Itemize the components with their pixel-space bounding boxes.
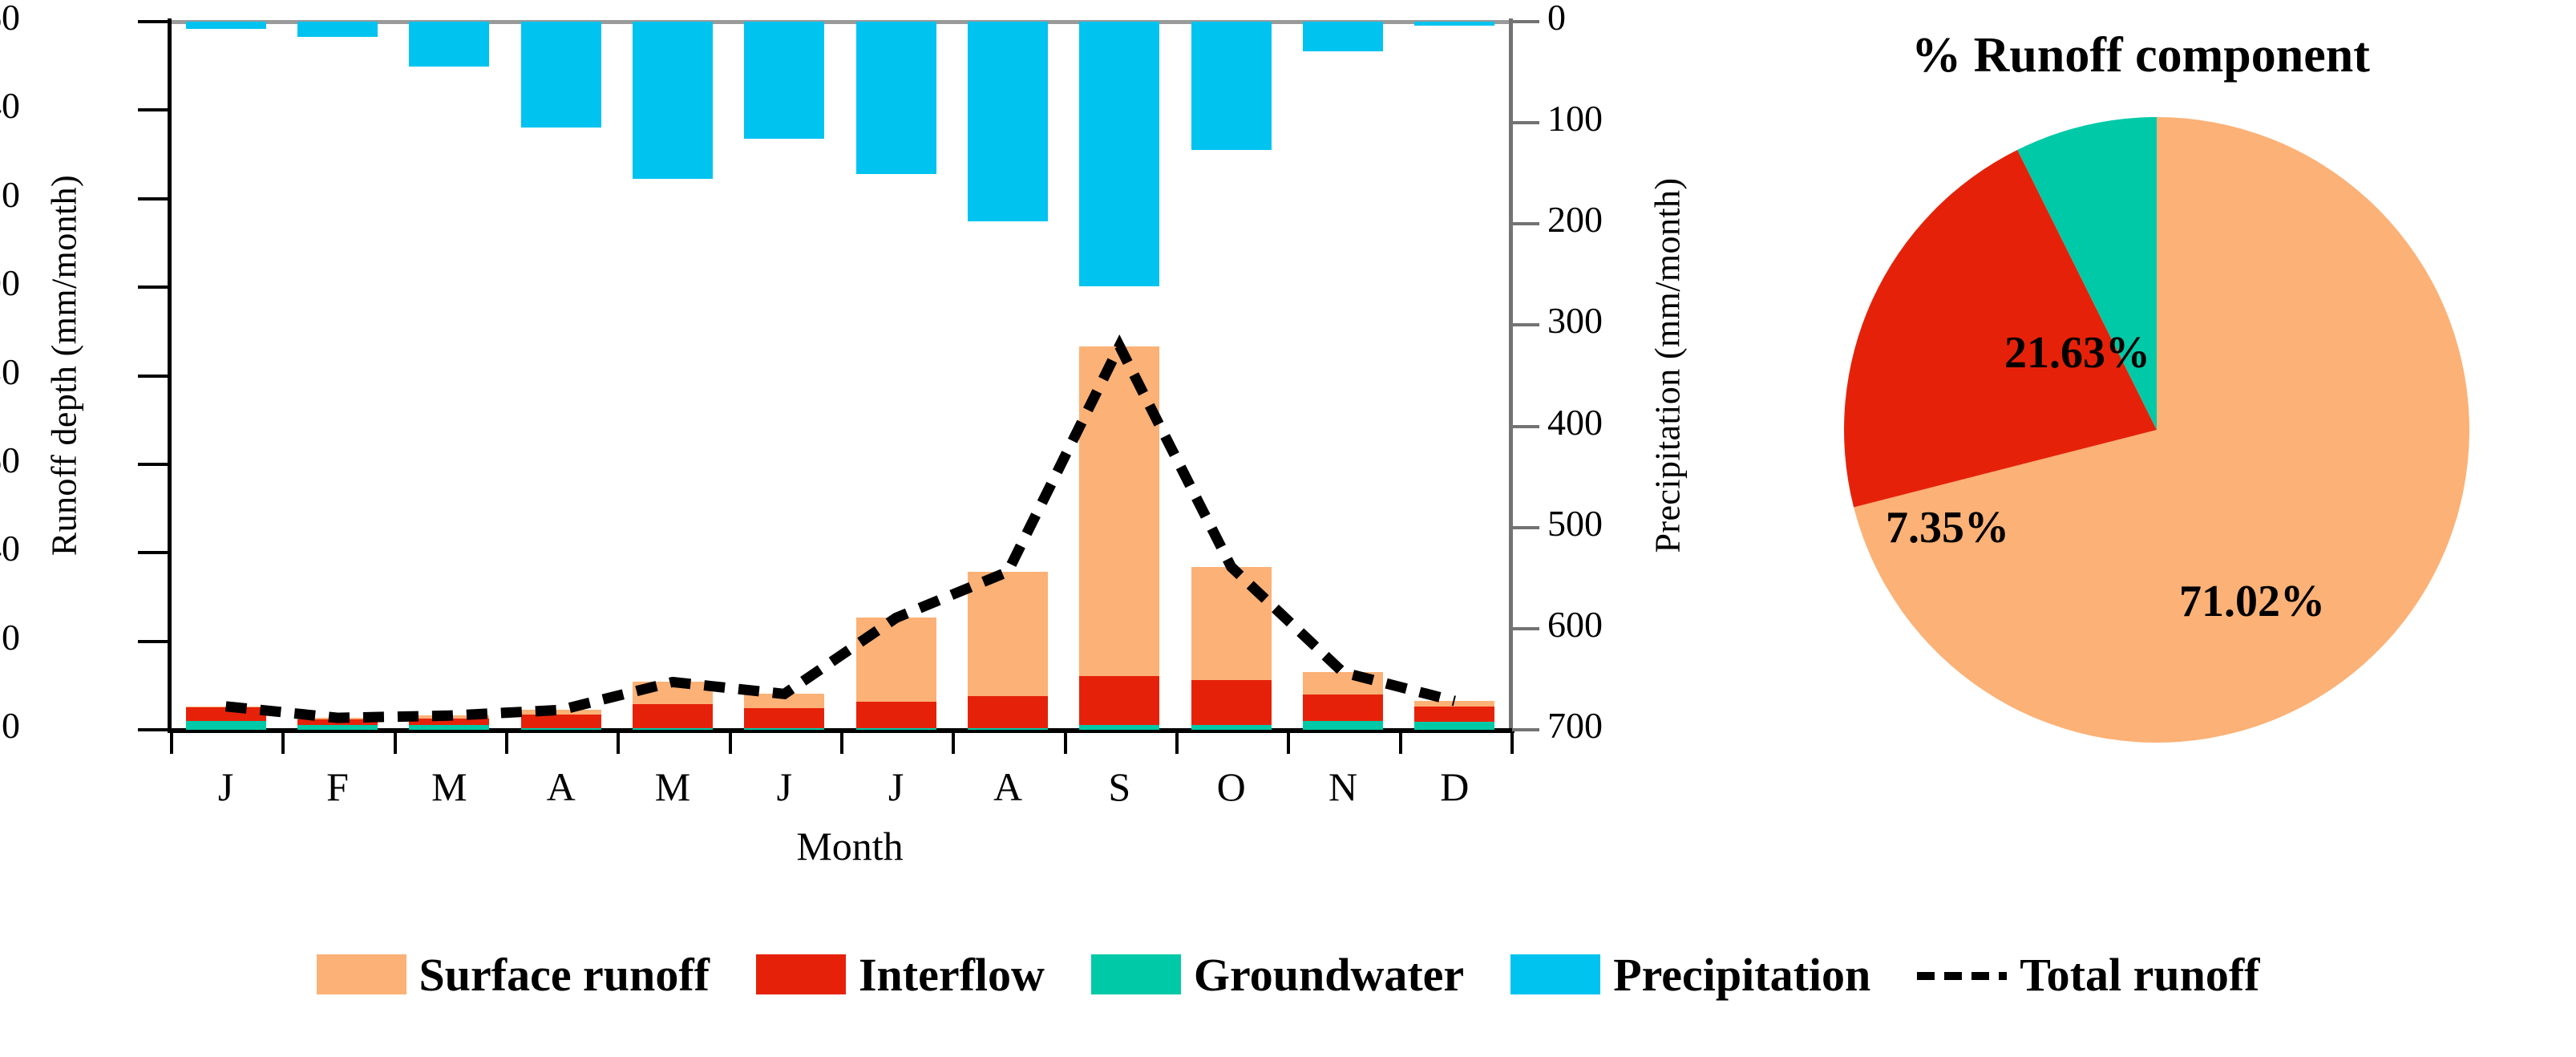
legend-swatch-icon — [1510, 954, 1600, 994]
x-axis-month-label: J — [728, 763, 840, 810]
interflow-segment — [1303, 695, 1383, 721]
x-axis-tick-mark — [952, 733, 955, 754]
x-axis-tick-mark — [1510, 733, 1514, 754]
y-axis-right-tick-mark — [1512, 222, 1539, 225]
y-axis-right-tick-label: 600 — [1547, 606, 1603, 643]
legend-swatch-icon — [756, 954, 846, 994]
x-axis-tick-mark — [1287, 733, 1290, 754]
runoff-stacked-bar — [968, 572, 1048, 730]
y-axis-left-tick-mark — [138, 463, 168, 466]
x-axis-tick-mark — [1175, 733, 1179, 754]
interflow-segment — [744, 708, 824, 728]
surface-runoff-segment — [968, 572, 1048, 696]
y-axis-left-tick-mark — [138, 108, 168, 111]
surface-runoff-segment — [1303, 672, 1383, 695]
y-axis-left-tick-mark — [138, 20, 168, 23]
interflow-segment — [1191, 680, 1272, 726]
month-column — [1303, 22, 1383, 730]
precipitation-bar — [1079, 22, 1159, 286]
y-axis-left-tick-label: 100 — [0, 265, 20, 302]
precipitation-bar — [633, 22, 713, 179]
legend-label: Interflow — [859, 948, 1045, 1002]
y-axis-right-tick-mark — [1512, 425, 1539, 428]
runoff-stacked-bar — [633, 682, 713, 730]
interflow-segment — [856, 702, 936, 728]
y-axis-left-tick-label: 20 — [0, 619, 20, 656]
month-column — [744, 22, 824, 730]
legend-swatch-icon — [317, 954, 406, 994]
precipitation-bar — [1303, 22, 1383, 51]
x-axis-tick-mark — [281, 733, 285, 754]
pie-label-surface-runoff: 71.02% — [2179, 576, 2325, 627]
month-column — [968, 22, 1048, 730]
chart-legend: Surface runoffInterflowGroundwaterPrecip… — [0, 922, 2576, 1027]
y-axis-right-tick-mark — [1512, 20, 1539, 23]
groundwater-segment — [521, 728, 601, 730]
y-axis-left-tick-mark — [138, 286, 168, 289]
y-axis-left-tick-label: 80 — [0, 354, 20, 391]
groundwater-segment — [1414, 722, 1494, 730]
x-axis-month-label: N — [1287, 763, 1399, 810]
groundwater-segment — [1079, 725, 1159, 730]
x-axis-title: Month — [609, 823, 1090, 869]
y-axis-right-tick-mark — [1512, 526, 1539, 529]
y-axis-right-tick-label: 700 — [1547, 707, 1603, 744]
y-axis-left-tick-mark — [138, 551, 168, 554]
runoff-stacked-bar — [409, 715, 489, 730]
x-axis-tick-mark — [394, 733, 397, 754]
precipitation-bar — [744, 22, 824, 139]
legend-label: Total runoff — [2020, 948, 2259, 1002]
groundwater-segment — [744, 728, 824, 730]
groundwater-segment — [1303, 721, 1383, 730]
interflow-segment — [1414, 707, 1494, 722]
y-axis-left-tick-mark — [138, 375, 168, 378]
legend-item: Precipitation — [1510, 948, 1870, 1002]
groundwater-segment — [856, 728, 936, 730]
surface-runoff-segment — [1414, 701, 1494, 707]
y-axis-left-tick-mark — [138, 640, 168, 643]
legend-label: Precipitation — [1613, 948, 1870, 1002]
legend-item: Groundwater — [1091, 948, 1464, 1002]
y-axis-left-tick-label: 120 — [0, 176, 20, 213]
runoff-stacked-bar — [186, 707, 266, 730]
surface-runoff-segment — [1191, 567, 1272, 680]
legend-label: Surface runoff — [419, 948, 710, 1002]
x-axis-month-label: A — [952, 763, 1064, 810]
y-axis-right-tick-label: 0 — [1547, 0, 1566, 36]
figure-root: Runoff depth (mm/month) Precipitation (m… — [0, 0, 2576, 1057]
precipitation-bar — [968, 22, 1048, 221]
y-axis-right-tick-label: 400 — [1547, 404, 1603, 441]
runoff-stacked-bar — [521, 710, 601, 730]
y-axis-left-tick-label: 40 — [0, 530, 20, 567]
interflow-segment — [409, 719, 489, 726]
precipitation-bar — [1414, 22, 1494, 26]
interflow-segment — [521, 715, 601, 729]
surface-runoff-segment — [633, 682, 713, 704]
y-axis-left-tick-mark — [138, 728, 168, 731]
x-axis-month-label: J — [170, 763, 282, 810]
legend-item: Surface runoff — [317, 948, 710, 1002]
y-axis-right-tick-mark — [1512, 323, 1539, 326]
month-column — [409, 22, 489, 730]
precipitation-bar — [521, 22, 601, 128]
groundwater-segment — [297, 725, 378, 730]
y-axis-right-tick-label: 300 — [1547, 302, 1603, 339]
x-axis-month-label: J — [840, 763, 952, 810]
y-axis-right-tick-label: 200 — [1547, 201, 1603, 238]
x-axis-tick-mark — [1399, 733, 1402, 754]
x-axis-tick-mark — [840, 733, 843, 754]
precipitation-bar — [1191, 22, 1272, 150]
x-axis-month-label: A — [505, 763, 617, 810]
x-axis-tick-mark — [505, 733, 508, 754]
groundwater-segment — [409, 725, 489, 730]
runoff-stacked-bar — [1191, 567, 1272, 730]
interflow-segment — [633, 704, 713, 728]
precipitation-bar — [856, 22, 936, 174]
month-column — [186, 22, 266, 730]
y-axis-left-tick-label: 160 — [0, 0, 20, 36]
x-axis-month-label: M — [393, 763, 505, 810]
surface-runoff-segment — [1079, 346, 1159, 676]
legend-label: Groundwater — [1194, 948, 1464, 1002]
y-axis-right-tick-mark — [1512, 121, 1539, 124]
interflow-segment — [297, 719, 378, 726]
y-axis-right-tick-label: 500 — [1547, 505, 1603, 542]
groundwater-segment — [968, 728, 1048, 730]
interflow-segment — [968, 696, 1048, 729]
groundwater-segment — [186, 721, 266, 730]
legend-item: Interflow — [756, 948, 1045, 1002]
x-axis-month-label: O — [1175, 763, 1288, 810]
runoff-stacked-bar — [1414, 701, 1494, 730]
groundwater-segment — [1191, 725, 1272, 730]
y-axis-left-title: Runoff depth (mm/month) — [44, 61, 85, 670]
runoff-stacked-bar — [297, 718, 378, 730]
interflow-segment — [1079, 676, 1159, 726]
legend-dashed-line-icon — [1917, 954, 2007, 994]
month-column — [856, 22, 936, 730]
x-axis-month-label: M — [617, 763, 729, 810]
runoff-stacked-bar — [1303, 672, 1383, 730]
month-column — [1079, 22, 1159, 730]
runoff-stacked-bar — [1079, 346, 1159, 730]
runoff-stacked-bar — [856, 618, 936, 730]
legend-item: Total runoff — [1917, 948, 2259, 1002]
pie-label-interflow: 21.63% — [2004, 327, 2150, 379]
pie-chart-title: % Runoff component — [1716, 27, 2566, 84]
x-axis-tick-mark — [1064, 733, 1067, 754]
y-axis-right-tick-mark — [1512, 728, 1539, 731]
month-column — [521, 22, 601, 730]
y-axis-left-tick-label: 60 — [0, 442, 20, 479]
x-axis-tick-mark — [729, 733, 732, 754]
y-axis-left-tick-mark — [138, 197, 168, 200]
x-axis-tick-mark — [617, 733, 620, 754]
groundwater-segment — [633, 728, 713, 730]
x-axis-tick-mark — [170, 733, 173, 754]
pie-chart-panel: % Runoff component 21.63% 7.35% 71.02% — [1716, 11, 2566, 901]
interflow-segment — [186, 707, 266, 721]
precipitation-bar — [297, 22, 378, 37]
y-axis-right-title: Precipitation (mm/month) — [1648, 61, 1688, 670]
month-column — [1414, 22, 1494, 730]
y-axis-left-tick-label: 0 — [2, 707, 20, 744]
month-column — [633, 22, 713, 730]
pie-chart: 21.63% 7.35% 71.02% — [1844, 117, 2469, 743]
pie-svg — [1844, 117, 2469, 743]
y-axis-right-tick-mark — [1512, 627, 1539, 630]
pie-label-groundwater: 7.35% — [1886, 502, 2009, 553]
surface-runoff-segment — [856, 618, 936, 702]
plot-area — [170, 22, 1510, 730]
combo-chart: Runoff depth (mm/month) Precipitation (m… — [0, 0, 1652, 890]
surface-runoff-segment — [744, 694, 824, 708]
runoff-stacked-bar — [744, 694, 824, 730]
y-axis-left-tick-label: 140 — [0, 87, 20, 124]
x-axis-month-label: S — [1063, 763, 1175, 810]
precipitation-bar — [186, 22, 266, 29]
precipitation-bar — [409, 22, 489, 67]
month-column — [1191, 22, 1272, 730]
x-axis-month-label: F — [281, 763, 394, 810]
y-axis-right-tick-label: 100 — [1547, 100, 1603, 137]
x-axis-month-label: D — [1398, 763, 1510, 810]
month-column — [297, 22, 378, 730]
legend-swatch-icon — [1091, 954, 1181, 994]
